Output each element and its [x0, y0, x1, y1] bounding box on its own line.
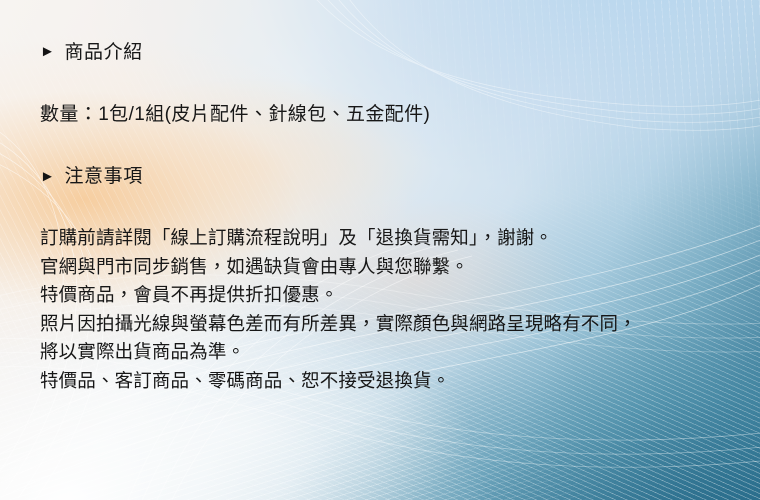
banner-text-content: ► 商品介紹 數量：1包/1組(皮片配件、針線包、五金配件) ► 注意事項 訂購…: [40, 40, 742, 395]
triangle-bullet-icon: ►: [40, 44, 55, 59]
product-quantity-line: 數量：1包/1組(皮片配件、針線包、五金配件): [40, 102, 742, 128]
notice-line: 訂購前請詳閱「線上訂購流程說明」及「退換貨需知」，謝謝。: [40, 224, 742, 253]
product-intro-heading: ► 商品介紹: [40, 40, 742, 66]
notice-line: 照片因拍攝光線與螢幕色差而有所差異，實際顏色與網路呈現略有不同，: [40, 310, 742, 339]
notice-line: 特價品、客訂商品、零碼商品、恕不接受退換貨。: [40, 367, 742, 396]
notice-line: 特價商品，會員不再提供折扣優惠。: [40, 281, 742, 310]
triangle-bullet-icon: ►: [40, 169, 55, 184]
notice-line: 官網與門市同步銷售，如遇缺貨會由專人與您聯繫。: [40, 253, 742, 282]
notice-lines: 訂購前請詳閱「線上訂購流程說明」及「退換貨需知」，謝謝。 官網與門市同步銷售，如…: [40, 224, 742, 396]
notice-line: 將以實際出貨商品為準。: [40, 338, 742, 367]
product-intro-heading-label: 商品介紹: [64, 40, 142, 66]
notice-heading-label: 注意事項: [64, 164, 142, 190]
product-description-banner: ► 商品介紹 數量：1包/1組(皮片配件、針線包、五金配件) ► 注意事項 訂購…: [0, 0, 760, 500]
notice-heading: ► 注意事項: [40, 164, 742, 190]
